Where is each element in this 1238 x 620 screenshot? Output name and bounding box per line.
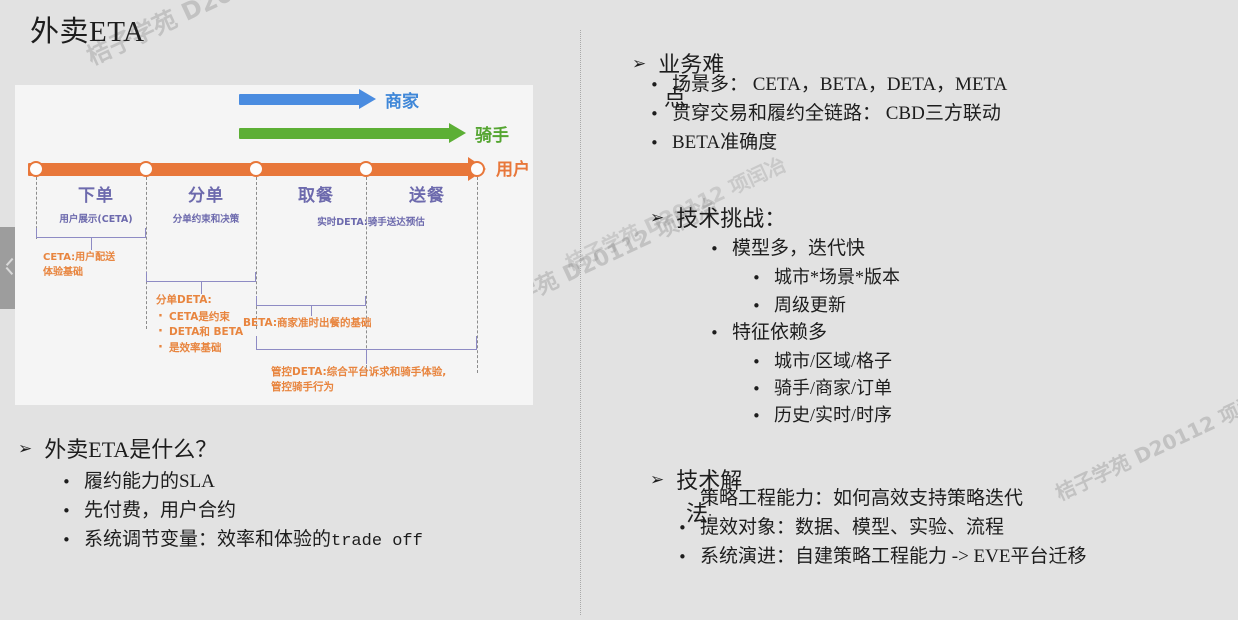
note-fendan-item: 是效率基础 bbox=[156, 341, 243, 356]
list-item: • 系统演进：自建策略工程能力 -> EVE平台迁移 bbox=[678, 543, 1230, 572]
sub-list-item-label: 城市/区域/格子 bbox=[774, 348, 892, 375]
list-item-label-mono: trade off bbox=[331, 529, 423, 555]
list-item-label: 特征依赖多 bbox=[732, 319, 827, 348]
sub-bullet-dot-icon: • bbox=[752, 351, 774, 374]
list-item: • 系统调节变量：效率和体验的trade off bbox=[62, 526, 558, 555]
list-item: • 提效对象：数据、模型、实验、流程 bbox=[678, 514, 1230, 543]
bullet-dot-icon: • bbox=[62, 471, 84, 494]
bullet-list: • 模型多，迭代快 • 城市*场景*版本 • 周级更新 • 特征依赖多 • bbox=[710, 235, 1230, 430]
timeline-node-dot bbox=[469, 161, 485, 177]
bullet-list: 策略工程能力：如何高效支持策略迭代 • 提效对象：数据、模型、实验、流程 • 系… bbox=[678, 485, 1230, 572]
arrow-bullet-icon: ➢ bbox=[650, 468, 664, 493]
beta-brace-stem bbox=[311, 306, 312, 316]
sub-list-item: • 城市*场景*版本 bbox=[752, 264, 1230, 291]
eta-flow-diagram: 商家 骑手 用户 下单 用户展示(CETA) bbox=[15, 85, 533, 405]
sub-list-item-label: 骑手/商家/订单 bbox=[774, 375, 892, 402]
sub-list-item-label: 周级更新 bbox=[774, 292, 846, 319]
bullet-dot-icon: • bbox=[678, 546, 700, 569]
list-item: 策略工程能力：如何高效支持策略迭代 bbox=[678, 485, 1230, 514]
sub-list-item-label: 城市*场景*版本 bbox=[774, 264, 900, 291]
bullet-list: • 场景多： CETA，BETA，DETA，META • 贯穿交易和履约全链路：… bbox=[650, 71, 1212, 158]
phase-取餐: 取餐 bbox=[261, 181, 371, 206]
section-business-difficulty: ➢ 业务难 • 场景多： CETA，BETA，DETA，META • 贯穿交易和… bbox=[632, 52, 1212, 158]
note-deta-line1: 管控DETA:综合平台诉求和骑手体验, bbox=[271, 365, 446, 380]
merchant-arrow-head bbox=[359, 89, 376, 109]
ceta-brace-stem bbox=[91, 238, 92, 250]
sub-list-item-label: 历史/实时/时序 bbox=[774, 402, 892, 429]
list-item-label: 先付费，用户合约 bbox=[84, 497, 236, 526]
section-heading-text: 技术挑战： bbox=[676, 206, 786, 231]
sub-bullet-dot-icon: • bbox=[752, 295, 774, 318]
sub-bullet-dot-icon: • bbox=[752, 267, 774, 290]
section-heading-colon: : bbox=[708, 509, 712, 525]
note-ceta: CETA:用户配送 体验基础 bbox=[43, 251, 115, 280]
phase-sub: 用户展示(CETA) bbox=[41, 211, 151, 225]
note-fendan-list: CETA是约束 DETA和 BETA 是效率基础 bbox=[156, 310, 243, 356]
phase-sub: 分单约束和决策 bbox=[151, 211, 261, 225]
sub-bullet-list: • 城市*场景*版本 • 周级更新 bbox=[752, 264, 1230, 319]
note-ceta-line2: 体验基础 bbox=[43, 266, 115, 281]
note-deta: 管控DETA:综合平台诉求和骑手体验, 管控骑手行为 bbox=[271, 365, 446, 395]
note-fendan-item: CETA是约束 bbox=[156, 310, 243, 325]
bullet-dot-icon: • bbox=[650, 132, 672, 155]
list-item-label: 系统演进：自建策略工程能力 -> EVE平台迁移 bbox=[700, 543, 1086, 572]
timeline-node-dot bbox=[358, 161, 374, 177]
list-item: • 特征依赖多 bbox=[710, 319, 1230, 348]
chevron-left-icon bbox=[4, 257, 13, 275]
phase-下单: 下单 用户展示(CETA) bbox=[41, 181, 151, 225]
bullet-list: • 履约能力的SLA • 先付费，用户合约 • 系统调节变量：效率和体验的tra… bbox=[62, 468, 558, 555]
phase-name: 送餐 bbox=[372, 181, 482, 206]
beta-brace bbox=[256, 296, 366, 306]
arrow-bullet-icon: ➢ bbox=[650, 206, 664, 231]
note-fendan-item: DETA和 BETA bbox=[156, 325, 243, 340]
note-ceta-line1: CETA:用户配送 bbox=[43, 251, 115, 266]
ceta-brace bbox=[36, 228, 146, 238]
section-heading-text: 外卖ETA是什么？ bbox=[44, 437, 217, 462]
merchant-arrow-bar bbox=[239, 94, 361, 105]
phase-sub-realtime-deta: 实时DETA:骑手送达预估 bbox=[261, 209, 481, 228]
bullet-dot-icon: • bbox=[62, 529, 84, 552]
timeline-node-dot bbox=[138, 161, 154, 177]
phase-divider bbox=[477, 177, 478, 373]
column-divider bbox=[580, 30, 581, 615]
sub-bullet-list: • 城市/区域/格子 • 骑手/商家/订单 • 历史/实时/时序 bbox=[752, 348, 1230, 430]
page-title: 外卖ETA bbox=[30, 8, 145, 50]
section-what-is-eta: ➢ 外卖ETA是什么？ • 履约能力的SLA • 先付费，用户合约 • 系统调节… bbox=[18, 437, 558, 555]
deta-brace bbox=[256, 336, 477, 350]
deta-brace-stem bbox=[366, 350, 367, 364]
sub-bullet-dot-icon: • bbox=[752, 405, 774, 428]
sub-list-item: • 城市/区域/格子 bbox=[752, 348, 1230, 375]
user-label: 用户 bbox=[496, 155, 530, 180]
list-item: • 模型多，迭代快 bbox=[710, 235, 1230, 264]
list-item-label: 模型多，迭代快 bbox=[732, 235, 865, 264]
bullet-dot-icon: • bbox=[62, 500, 84, 523]
list-item-label: 场景多： CETA，BETA，DETA，META bbox=[672, 71, 1007, 100]
rider-arrow-head bbox=[449, 123, 466, 143]
slide-canvas: 桔子学苑 D20112 项闰冶 桔子学苑 D20112 项闰冶 桔子学苑 D20… bbox=[0, 0, 1238, 620]
timeline-node-dot bbox=[28, 161, 44, 177]
list-item-label: 提效对象：数据、模型、实验、流程 bbox=[700, 514, 1004, 543]
sub-list-item: • 骑手/商家/订单 bbox=[752, 375, 1230, 402]
section-heading-wrap-solution: 法: bbox=[686, 496, 712, 528]
timeline-node-dot bbox=[248, 161, 264, 177]
list-item: • 场景多： CETA，BETA，DETA，META bbox=[650, 71, 1212, 100]
list-item-label: 贯穿交易和履约全链路： CBD三方联动 bbox=[672, 100, 1001, 129]
bullet-dot-icon: • bbox=[710, 322, 732, 345]
section-tech-solution: ➢ 技术解 策略工程能力：如何高效支持策略迭代 • 提效对象：数据、模型、实验、… bbox=[650, 468, 1230, 572]
list-item: • 贯穿交易和履约全链路： CBD三方联动 bbox=[650, 100, 1212, 129]
list-item-label: 履约能力的SLA bbox=[84, 468, 215, 497]
phase-name: 下单 bbox=[41, 181, 151, 206]
list-item-label: 策略工程能力：如何高效支持策略迭代 bbox=[700, 485, 1023, 514]
note-deta-line2: 管控骑手行为 bbox=[271, 380, 446, 395]
phase-name: 取餐 bbox=[261, 181, 371, 206]
sub-bullet-dot-icon: • bbox=[752, 378, 774, 401]
phase-分单: 分单 分单约束和决策 bbox=[151, 181, 261, 225]
sub-list-item: • 周级更新 bbox=[752, 292, 1230, 319]
list-item: • BETA准确度 bbox=[650, 129, 1212, 158]
phase-name: 分单 bbox=[151, 181, 261, 206]
section-heading-wrap-business: 点 bbox=[664, 80, 686, 112]
bullet-dot-icon: • bbox=[710, 238, 732, 261]
list-item: • 先付费，用户合约 bbox=[62, 497, 558, 526]
fendan-brace bbox=[146, 272, 256, 282]
section-heading: ➢ 技术挑战： bbox=[650, 206, 1230, 231]
section-heading: ➢ 外卖ETA是什么？ bbox=[18, 437, 558, 462]
phase-sub: 实时DETA:骑手送达预估 bbox=[261, 214, 481, 228]
arrow-bullet-icon: ➢ bbox=[632, 52, 646, 77]
arrow-bullet-icon: ➢ bbox=[18, 437, 32, 462]
section-heading-wrap-text: 法 bbox=[686, 501, 708, 526]
section-tech-challenge: ➢ 技术挑战： • 模型多，迭代快 • 城市*场景*版本 • 周级更新 • 特征… bbox=[650, 206, 1230, 430]
note-fendan-deta: 分单DETA: CETA是约束 DETA和 BETA 是效率基础 bbox=[156, 293, 243, 356]
rider-label: 骑手 bbox=[475, 121, 509, 146]
rider-arrow-bar bbox=[239, 128, 451, 139]
note-fendan-title: 分单DETA: bbox=[156, 293, 243, 308]
list-item-label: BETA准确度 bbox=[672, 129, 777, 158]
sub-list-item: • 历史/实时/时序 bbox=[752, 402, 1230, 429]
list-item-label: 系统调节变量：效率和体验的 bbox=[84, 526, 331, 555]
phase-送餐: 送餐 bbox=[372, 181, 482, 206]
note-beta: BETA:商家准时出餐的基础 bbox=[243, 316, 372, 331]
list-item: • 履约能力的SLA bbox=[62, 468, 558, 497]
merchant-label: 商家 bbox=[385, 87, 419, 112]
